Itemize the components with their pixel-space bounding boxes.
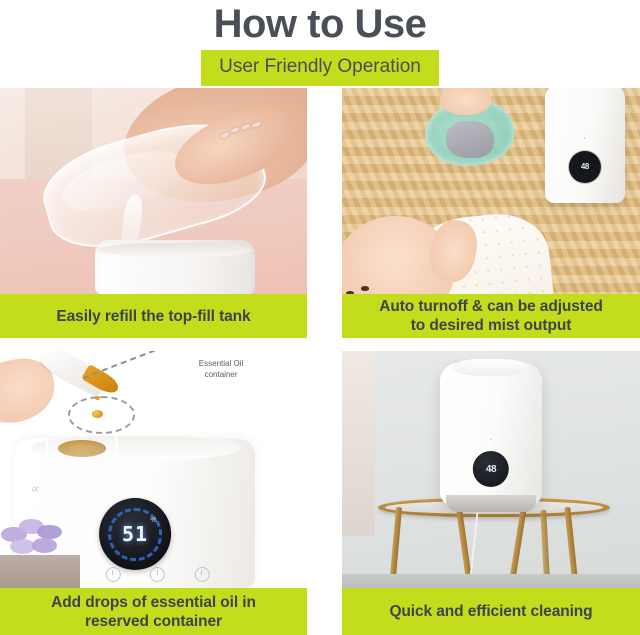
photo-essential-oil: ∝ 51 %	[0, 351, 307, 588]
caption-line-1: Add drops of essential oil in	[51, 594, 256, 611]
callout-leader-line	[83, 351, 155, 379]
photo-refill-tank	[0, 88, 307, 294]
subtitle-wrapper: User Friendly Operation	[0, 50, 640, 86]
panel-auto-turnoff: • 48 Auto turnoff & can be a	[342, 88, 640, 338]
unit-base	[446, 495, 535, 512]
tank-top	[452, 359, 529, 376]
flower	[32, 538, 57, 553]
reserved-oil-container	[46, 433, 118, 463]
infographic-page: How to Use User Friendly Operation Easi	[0, 0, 640, 635]
sleep-mode-icon[interactable]	[194, 567, 209, 582]
teething-toy-core	[446, 121, 494, 158]
caption-line-2: reserved container	[85, 613, 222, 630]
humidity-value: 51	[122, 522, 148, 546]
humidifier-unit: • 48	[440, 363, 541, 505]
lavender-flowers	[0, 512, 74, 569]
header: How to Use User Friendly Operation	[0, 0, 640, 86]
humidifier-tank	[95, 240, 255, 294]
oil-droplet	[92, 410, 102, 418]
door-frame	[342, 351, 375, 536]
photo-humidifier-table: • 48	[342, 351, 640, 588]
panel-essential-oil: ∝ 51 %	[0, 351, 307, 635]
brand-text: •	[490, 437, 492, 443]
callout-line-2: container	[205, 370, 238, 379]
caption-line-2: to desired mist output	[411, 317, 572, 334]
baby-eye	[361, 286, 369, 290]
display-disc: 48	[569, 151, 601, 183]
caption-essential-oil: Add drops of essential oil in reserved c…	[0, 588, 307, 635]
panel-cleaning: • 48 Quick and efficient cleaning	[342, 351, 640, 635]
oil-droplet	[95, 396, 100, 400]
percent-symbol: %	[150, 517, 156, 524]
fingernail	[252, 121, 261, 128]
baby-eye	[346, 291, 354, 294]
photo-baby-basket: • 48	[342, 88, 640, 294]
caption-cleaning: Quick and efficient cleaning	[342, 588, 640, 635]
floor	[342, 574, 640, 588]
timer-icon[interactable]	[150, 567, 165, 582]
caption-line-1: Auto turnoff & can be adjusted	[379, 298, 602, 315]
mist-icon[interactable]	[105, 567, 120, 582]
touch-control-row[interactable]	[61, 567, 209, 582]
callout-label: Essential Oil container	[154, 358, 289, 380]
callout-line-1: Essential Oil	[199, 359, 243, 368]
humidity-value: 48	[581, 162, 589, 171]
fingernail	[241, 123, 250, 130]
page-title: How to Use	[0, 2, 640, 46]
display-disc: 51 %	[99, 498, 171, 570]
caption-refill: Easily refill the top-fill tank	[0, 294, 307, 338]
brand-logo: ∝	[30, 481, 39, 497]
flower	[37, 525, 62, 540]
humidity-value: 48	[486, 464, 496, 475]
caption-auto-turnoff: Auto turnoff & can be adjusted to desire…	[342, 294, 640, 338]
fingernail	[220, 132, 229, 139]
baby-hand	[440, 88, 491, 115]
subtitle-banner: User Friendly Operation	[201, 50, 439, 86]
fingernail	[230, 126, 239, 133]
humidifier-unit: • 48	[545, 88, 625, 203]
panel-grid: Easily refill the top-fill tank • 48	[0, 88, 640, 635]
brand-text: •	[584, 136, 586, 142]
panel-refill: Easily refill the top-fill tank	[0, 88, 307, 338]
display-disc: 48	[473, 451, 509, 487]
